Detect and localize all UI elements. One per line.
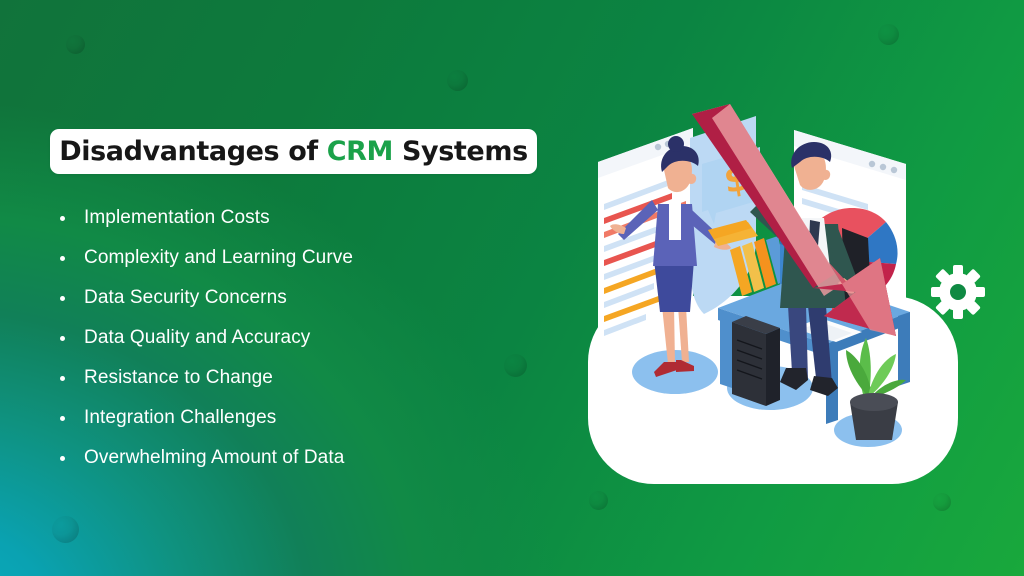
gear-icon bbox=[931, 265, 985, 319]
title-prefix: Disadvantages of bbox=[59, 136, 326, 167]
list-item-label: Integration Challenges bbox=[84, 407, 276, 428]
page-title: Disadvantages of CRM Systems bbox=[59, 136, 528, 167]
disadvantages-list: Implementation CostsComplexity and Learn… bbox=[52, 198, 522, 478]
list-item: Overwhelming Amount of Data bbox=[52, 438, 522, 478]
list-item: Data Security Concerns bbox=[52, 278, 522, 318]
list-item: Resistance to Change bbox=[52, 358, 522, 398]
list-item-label: Data Security Concerns bbox=[84, 287, 287, 308]
list-item: Implementation Costs bbox=[52, 198, 522, 238]
list-item-label: Complexity and Learning Curve bbox=[84, 247, 353, 268]
title-suffix: Systems bbox=[393, 136, 528, 167]
pc-tower bbox=[732, 316, 780, 406]
decorative-sphere-2 bbox=[447, 70, 468, 91]
list-item: Complexity and Learning Curve bbox=[52, 238, 522, 278]
list-item-label: Resistance to Change bbox=[84, 367, 273, 388]
list-item: Data Quality and Accuracy bbox=[52, 318, 522, 358]
title-highlight: CRM bbox=[327, 136, 393, 167]
office-illustration: $ bbox=[580, 100, 1024, 520]
list-item-label: Data Quality and Accuracy bbox=[84, 327, 310, 348]
decorative-sphere-1 bbox=[66, 35, 85, 54]
list-item-label: Overwhelming Amount of Data bbox=[84, 447, 344, 468]
list-item: Integration Challenges bbox=[52, 398, 522, 438]
slide-canvas: Disadvantages of CRM Systems Implementat… bbox=[0, 0, 1024, 576]
decorative-sphere-3 bbox=[878, 24, 899, 45]
title-badge: Disadvantages of CRM Systems bbox=[50, 129, 537, 174]
list-item-label: Implementation Costs bbox=[84, 207, 270, 228]
decorative-sphere-6 bbox=[52, 516, 79, 543]
